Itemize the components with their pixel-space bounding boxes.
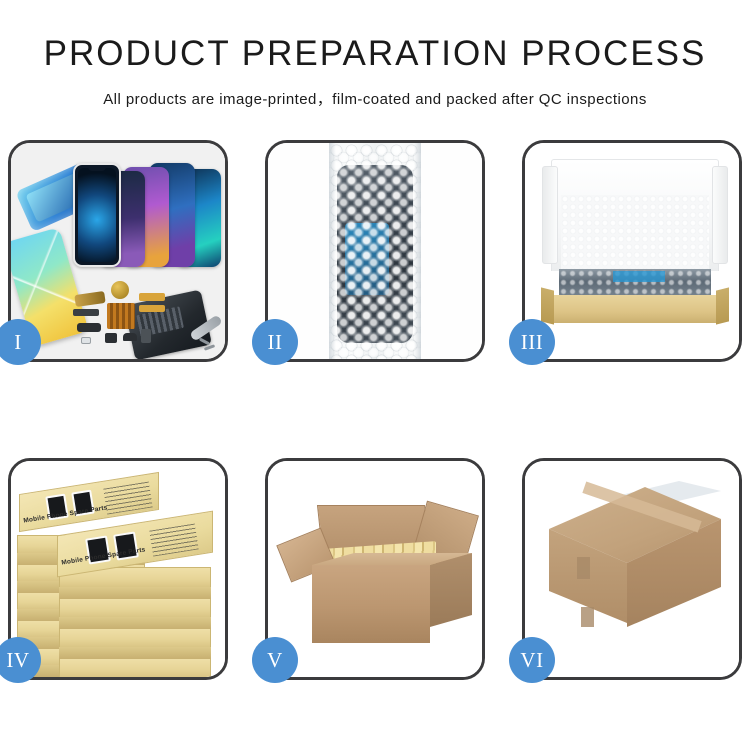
page-subtitle: All products are image-printed，film-coat… xyxy=(0,88,750,109)
step-badge-iii: III xyxy=(509,319,555,365)
wrap-edge-left xyxy=(329,143,336,359)
step-image-iv: Mobile Phone Spare Parts Mobile Phone Sp… xyxy=(11,461,225,677)
step-image-v xyxy=(268,461,482,677)
box-base-kraft xyxy=(551,295,719,323)
box-contents-wrapped-parts xyxy=(559,269,711,297)
step-panel-i: I xyxy=(8,140,228,362)
part-chip-a xyxy=(105,333,117,343)
step-panel-iii: III xyxy=(522,140,742,362)
part-flex-a xyxy=(139,293,165,301)
carton-side-face xyxy=(430,553,472,627)
step-image-ii xyxy=(268,143,482,359)
part-earpiece xyxy=(73,309,99,316)
process-steps-grid: I II xyxy=(8,140,742,680)
step-badge-vi: VI xyxy=(509,637,555,683)
wrap-edge-right xyxy=(414,143,421,359)
small-parts-group xyxy=(73,287,169,345)
step-badge-ii: II xyxy=(252,319,298,365)
open-carton-photo xyxy=(268,461,482,677)
screws-icon xyxy=(199,337,219,351)
box-foam-liner xyxy=(561,195,709,269)
phone-notch xyxy=(88,167,106,171)
part-flex-b xyxy=(139,305,165,312)
step-panel-vi: VI xyxy=(522,458,742,680)
packing-tape-seam-upper xyxy=(577,557,590,579)
step-image-iii xyxy=(525,143,739,359)
step-panel-ii: II xyxy=(265,140,485,362)
step-image-i xyxy=(11,143,225,359)
phone-parts-photo xyxy=(11,143,225,359)
phone-screen-5 xyxy=(73,163,121,267)
header: PRODUCT PREPARATION PROCESS All products… xyxy=(0,0,750,109)
bubble-wrap-photo xyxy=(268,143,482,359)
step-image-vi xyxy=(525,461,739,677)
stacked-boxes-photo: Mobile Phone Spare Parts Mobile Phone Sp… xyxy=(11,461,225,677)
speaker-part-icon xyxy=(111,281,129,299)
stacked-box-r4 xyxy=(59,627,211,649)
stacked-box-r5 xyxy=(59,657,211,677)
part-chip-b xyxy=(123,333,137,341)
part-battery xyxy=(141,329,151,343)
stacked-box-r3 xyxy=(59,597,211,619)
phone-screen-stack xyxy=(71,155,221,267)
step-panel-v: V xyxy=(265,458,485,680)
flex-cable-icon xyxy=(74,291,105,307)
sealed-carton-photo xyxy=(525,461,739,677)
bubble-texture-back xyxy=(329,150,421,359)
packing-tape-seam-lower xyxy=(581,607,594,627)
page-title: PRODUCT PREPARATION PROCESS xyxy=(0,36,750,71)
part-connector-grid xyxy=(107,303,135,329)
step-panel-iv: Mobile Phone Spare Parts Mobile Phone Sp… xyxy=(8,458,228,680)
part-button xyxy=(77,323,101,332)
part-sim-tray xyxy=(81,337,91,344)
carton-front-face xyxy=(312,565,430,643)
product-preparation-infographic: PRODUCT PREPARATION PROCESS All products… xyxy=(0,0,750,750)
step-badge-v: V xyxy=(252,637,298,683)
open-white-box-photo xyxy=(525,143,739,359)
